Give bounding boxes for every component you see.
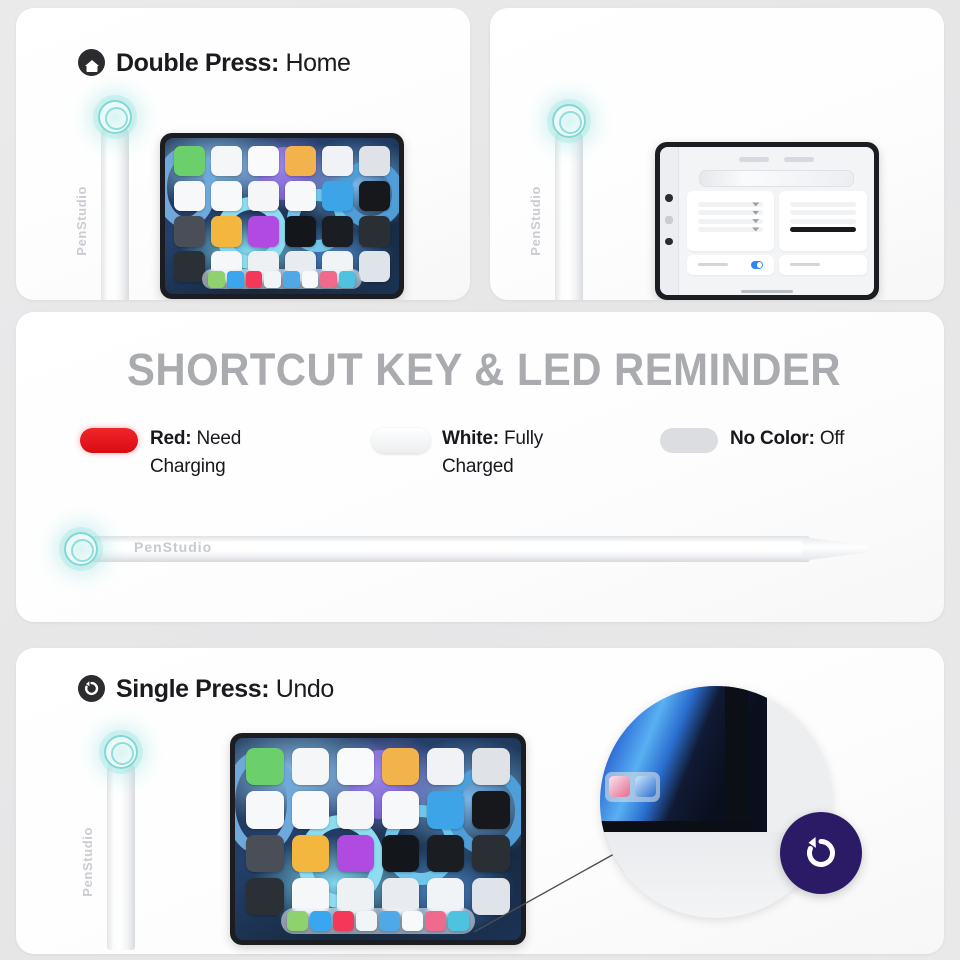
feature-toggle[interactable] <box>751 261 763 270</box>
settings-option[interactable] <box>790 210 856 215</box>
app-icon[interactable] <box>427 835 464 872</box>
legend-text-no-color: No Color: Off <box>730 425 844 453</box>
settings-cards <box>687 191 867 250</box>
settings-card-right <box>779 191 866 250</box>
app-grid <box>246 748 509 900</box>
heading-single-press: Single Press: Undo <box>78 672 478 706</box>
app-icon[interactable] <box>359 251 390 282</box>
app-icon[interactable] <box>246 878 283 915</box>
dock-app-icon[interactable] <box>339 271 356 288</box>
pen-preview <box>699 170 854 188</box>
app-icon[interactable] <box>248 216 279 247</box>
dock-app-icon[interactable] <box>425 911 446 932</box>
settings-app <box>660 147 874 295</box>
app-icon[interactable] <box>285 181 316 212</box>
settings-topbar <box>687 153 867 165</box>
settings-toggle-row[interactable] <box>687 255 774 275</box>
app-icon[interactable] <box>359 181 390 212</box>
settings-option[interactable] <box>790 219 856 224</box>
led-swatch-red <box>80 428 138 453</box>
legend-name-no-color: No Color: <box>730 428 815 449</box>
app-icon[interactable] <box>292 791 329 828</box>
app-icon[interactable] <box>472 791 509 828</box>
ipad-triple-press <box>655 142 879 300</box>
panel-triple-press: Triple Press: Open App Switcher PenStudi… <box>490 8 944 300</box>
heading-double-press-text: Double Press: Home <box>116 46 351 80</box>
dock-app-icon[interactable] <box>246 271 263 288</box>
stepper-label <box>790 263 820 266</box>
undo-badge <box>780 812 862 894</box>
home-indicator <box>741 290 792 293</box>
dock-app-icon[interactable] <box>227 271 244 288</box>
pen-tip <box>802 537 868 561</box>
dock-app-icon[interactable] <box>356 911 377 932</box>
dock-app-icon[interactable] <box>302 271 319 288</box>
dock-app-icon[interactable] <box>379 911 400 932</box>
sidebar-item-device[interactable] <box>665 194 673 202</box>
toggle-label <box>698 263 728 266</box>
app-icon[interactable] <box>382 748 419 785</box>
legend-state-no-color: Off <box>820 428 844 449</box>
app-icon[interactable] <box>472 748 509 785</box>
app-icon[interactable] <box>248 146 279 177</box>
settings-toggles <box>687 255 867 275</box>
ipad-double-press <box>160 133 404 299</box>
dock-app-icon[interactable] <box>333 911 354 932</box>
undo-icon <box>78 675 105 702</box>
zoomed-app-icon <box>635 776 656 797</box>
ipad-screen <box>660 147 874 295</box>
led-reminder-title: SHORTCUT KEY & LED REMINDER <box>95 344 872 396</box>
settings-primary-button[interactable] <box>790 227 856 232</box>
panel-double-press: Double Press: Home PenStudio <box>16 8 470 300</box>
legend-item-no-color: No Color: Off <box>660 425 920 453</box>
pen-brand-label: PenStudio <box>134 539 212 555</box>
app-icon[interactable] <box>427 748 464 785</box>
settings-dropdown[interactable] <box>698 219 764 224</box>
device-name-chip <box>739 157 770 162</box>
legend-item-red: Red: Need Charging <box>80 425 310 481</box>
gesture-label-single: Single Press: <box>116 675 269 703</box>
dock-app-icon[interactable] <box>320 271 337 288</box>
ipad-screen <box>235 738 521 940</box>
pen-brand-label: PenStudio <box>74 186 138 256</box>
undo-arrow-icon <box>798 830 844 876</box>
led-ring-indicator <box>64 532 98 566</box>
infographic-page: Double Press: Home PenStudio <box>0 0 960 960</box>
settings-sidebar[interactable] <box>660 147 679 295</box>
app-icon[interactable] <box>337 791 374 828</box>
settings-main <box>679 147 874 295</box>
led-swatch-no-color <box>660 428 718 453</box>
home-icon <box>78 49 105 76</box>
ipad-single-press <box>230 733 526 945</box>
dock-app-icon[interactable] <box>402 911 423 932</box>
sidebar-item-gestures[interactable] <box>665 216 673 224</box>
app-icon[interactable] <box>322 216 353 247</box>
legend-text-red: Red: Need Charging <box>150 425 310 481</box>
app-icon[interactable] <box>292 748 329 785</box>
zoomed-dock <box>605 772 661 802</box>
action-label-single: Undo <box>276 675 334 703</box>
app-icon[interactable] <box>211 146 242 177</box>
stylus-pen-double: PenStudio <box>92 100 138 300</box>
stylus-pen-single: PenStudio <box>98 735 144 950</box>
app-icon[interactable] <box>246 748 283 785</box>
led-ring-indicator <box>552 104 586 138</box>
app-icon[interactable] <box>285 216 316 247</box>
app-icon[interactable] <box>248 181 279 212</box>
ipad-screen <box>165 138 399 294</box>
app-icon[interactable] <box>174 181 205 212</box>
app-icon[interactable] <box>359 146 390 177</box>
gesture-label-double: Double Press: <box>116 49 279 77</box>
pen-brand-label: PenStudio <box>528 186 592 256</box>
app-icon[interactable] <box>382 791 419 828</box>
legend-name-white: White: <box>442 428 499 449</box>
settings-dropdown[interactable] <box>698 202 764 207</box>
legend-text-white: White: Fully Charged <box>442 425 602 481</box>
heading-single-press-text: Single Press: Undo <box>116 672 334 706</box>
app-icon[interactable] <box>174 146 205 177</box>
app-icon[interactable] <box>472 835 509 872</box>
app-icon[interactable] <box>472 878 509 915</box>
ipad-dock <box>202 269 361 289</box>
led-ring-indicator <box>98 100 132 134</box>
app-icon[interactable] <box>174 216 205 247</box>
app-icon[interactable] <box>246 791 283 828</box>
dock-app-icon[interactable] <box>287 911 308 932</box>
settings-card-left <box>687 191 774 250</box>
settings-stepper-row[interactable] <box>779 255 866 275</box>
app-icon[interactable] <box>292 835 329 872</box>
app-icon[interactable] <box>322 146 353 177</box>
app-icon[interactable] <box>359 216 390 247</box>
zoomed-app-icon <box>609 776 630 797</box>
led-swatch-white <box>372 428 430 453</box>
battery-chip <box>784 157 815 162</box>
app-icon[interactable] <box>285 146 316 177</box>
heading-double-press: Double Press: Home <box>78 46 458 80</box>
pen-brand-label: PenStudio <box>80 827 144 897</box>
stylus-pen-triple: PenStudio <box>546 104 592 300</box>
dock-app-icon[interactable] <box>264 271 281 288</box>
app-icon[interactable] <box>427 791 464 828</box>
app-icon[interactable] <box>174 251 205 282</box>
app-icon[interactable] <box>246 835 283 872</box>
legend-item-white: White: Fully Charged <box>372 425 602 481</box>
app-icon[interactable] <box>211 181 242 212</box>
legend-name-red: Red: <box>150 428 191 449</box>
settings-dropdown[interactable] <box>698 227 764 232</box>
app-icon[interactable] <box>337 748 374 785</box>
dock-app-icon[interactable] <box>448 911 469 932</box>
stylus-pen-horizontal: PenStudio <box>62 520 882 582</box>
app-grid <box>174 146 389 263</box>
sidebar-item-settings[interactable] <box>665 238 673 246</box>
ipad-dock <box>281 908 476 934</box>
settings-option[interactable] <box>790 202 856 207</box>
undo-arrow-glyph <box>82 679 101 698</box>
app-icon[interactable] <box>337 835 374 872</box>
led-ring-indicator <box>104 735 138 769</box>
app-icon[interactable] <box>211 216 242 247</box>
dock-app-icon[interactable] <box>283 271 300 288</box>
dock-app-icon[interactable] <box>208 271 225 288</box>
dock-app-icon[interactable] <box>310 911 331 932</box>
action-label-double: Home <box>285 49 350 77</box>
app-icon[interactable] <box>322 181 353 212</box>
zoomed-screen-edge <box>600 821 753 833</box>
settings-dropdown[interactable] <box>698 210 764 215</box>
app-icon[interactable] <box>382 835 419 872</box>
